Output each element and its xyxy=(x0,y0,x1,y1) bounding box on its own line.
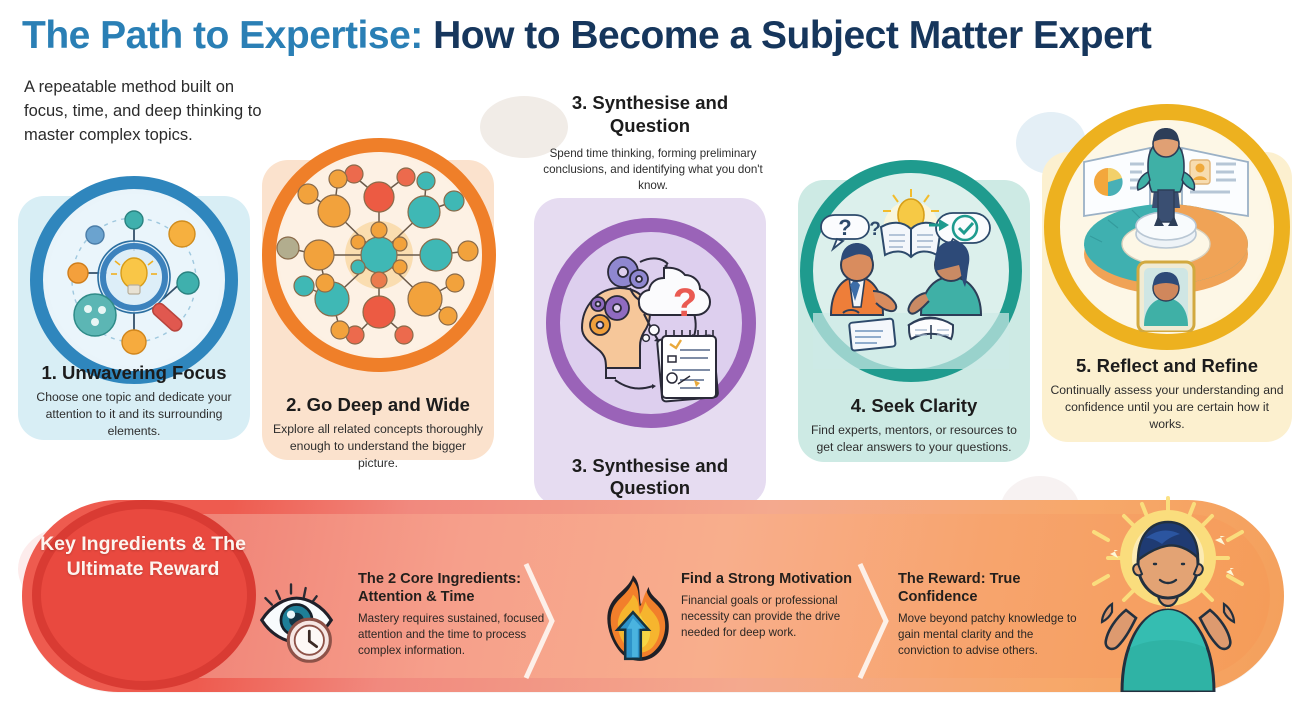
step-3-title: 3. Synthesise and Question xyxy=(534,455,766,499)
step-4-title: 4. Seek Clarity xyxy=(798,395,1030,417)
step-1-illustration-ring xyxy=(30,176,238,384)
step-4-illustration-ring: ? ? xyxy=(800,160,1022,382)
key-ingredients-label: Key Ingredients & The Ultimate Reward xyxy=(36,532,250,583)
banner-item-1[interactable]: The 2 Core Ingredients: Attention & Time… xyxy=(358,570,548,659)
banner-item-3[interactable]: The Reward: True Confidence Move beyond … xyxy=(898,570,1080,659)
two-people-discussion-book-icon: ? ? xyxy=(813,173,1009,369)
page-title-main: How to Become a Subject Matter Expert xyxy=(433,14,1151,57)
flame-up-arrow-icon xyxy=(597,573,669,665)
step-1-body: Choose one topic and dedicate your atten… xyxy=(30,389,238,439)
step-3-body: Spend time thinking, forming preliminary… xyxy=(534,146,772,194)
page-title-accent: The Path to Expertise: xyxy=(22,14,423,57)
banner-item-1-body: Mastery requires sustained, focused atte… xyxy=(358,611,548,659)
key-ingredients-badge[interactable] xyxy=(32,500,256,690)
magnifying-glass-lightbulb-network-icon xyxy=(43,189,225,371)
head-gears-question-notepad-icon: ? xyxy=(560,232,742,414)
step-5-illustration-ring xyxy=(1044,104,1290,350)
banner-item-2[interactable]: Find a Strong Motivation Financial goals… xyxy=(681,570,857,641)
banner-item-3-title: The Reward: True Confidence xyxy=(898,570,1080,606)
eye-clock-icon xyxy=(258,578,346,664)
step-2-body: Explore all related concepts thoroughly … xyxy=(272,421,484,471)
page-title: The Path to Expertise: How to Become a S… xyxy=(22,14,1151,58)
step-3-heading-top: 3. Synthesise and Question xyxy=(534,92,766,137)
step-5-body: Continually assess your understanding an… xyxy=(1048,382,1286,432)
infographic-canvas: The Path to Expertise: How to Become a S… xyxy=(0,0,1305,704)
step-2-title: 2. Go Deep and Wide xyxy=(262,394,494,416)
step-1-title: 1. Unwavering Focus xyxy=(18,362,250,384)
banner-item-2-title: Find a Strong Motivation xyxy=(681,570,857,588)
node-network-icon xyxy=(276,152,482,358)
confident-person-glow-icon xyxy=(1052,492,1284,692)
banner-item-3-body: Move beyond patchy knowledge to gain men… xyxy=(898,611,1080,659)
banner-item-2-body: Financial goals or professional necessit… xyxy=(681,593,857,641)
step-2-illustration-ring xyxy=(262,138,496,372)
step-3-illustration-ring: ? xyxy=(546,218,756,428)
svg-text:?: ? xyxy=(838,215,851,240)
banner-item-1-title: The 2 Core Ingredients: Attention & Time xyxy=(358,570,548,606)
svg-text:?: ? xyxy=(869,219,881,240)
step-5-title: 5. Reflect and Refine xyxy=(1042,355,1292,377)
step-4-body: Find experts, mentors, or resources to g… xyxy=(806,422,1022,456)
svg-text:?: ? xyxy=(673,281,697,325)
person-on-platform-dashboard-icon xyxy=(1060,120,1272,332)
intro-paragraph: A repeatable method built on focus, time… xyxy=(24,76,274,148)
